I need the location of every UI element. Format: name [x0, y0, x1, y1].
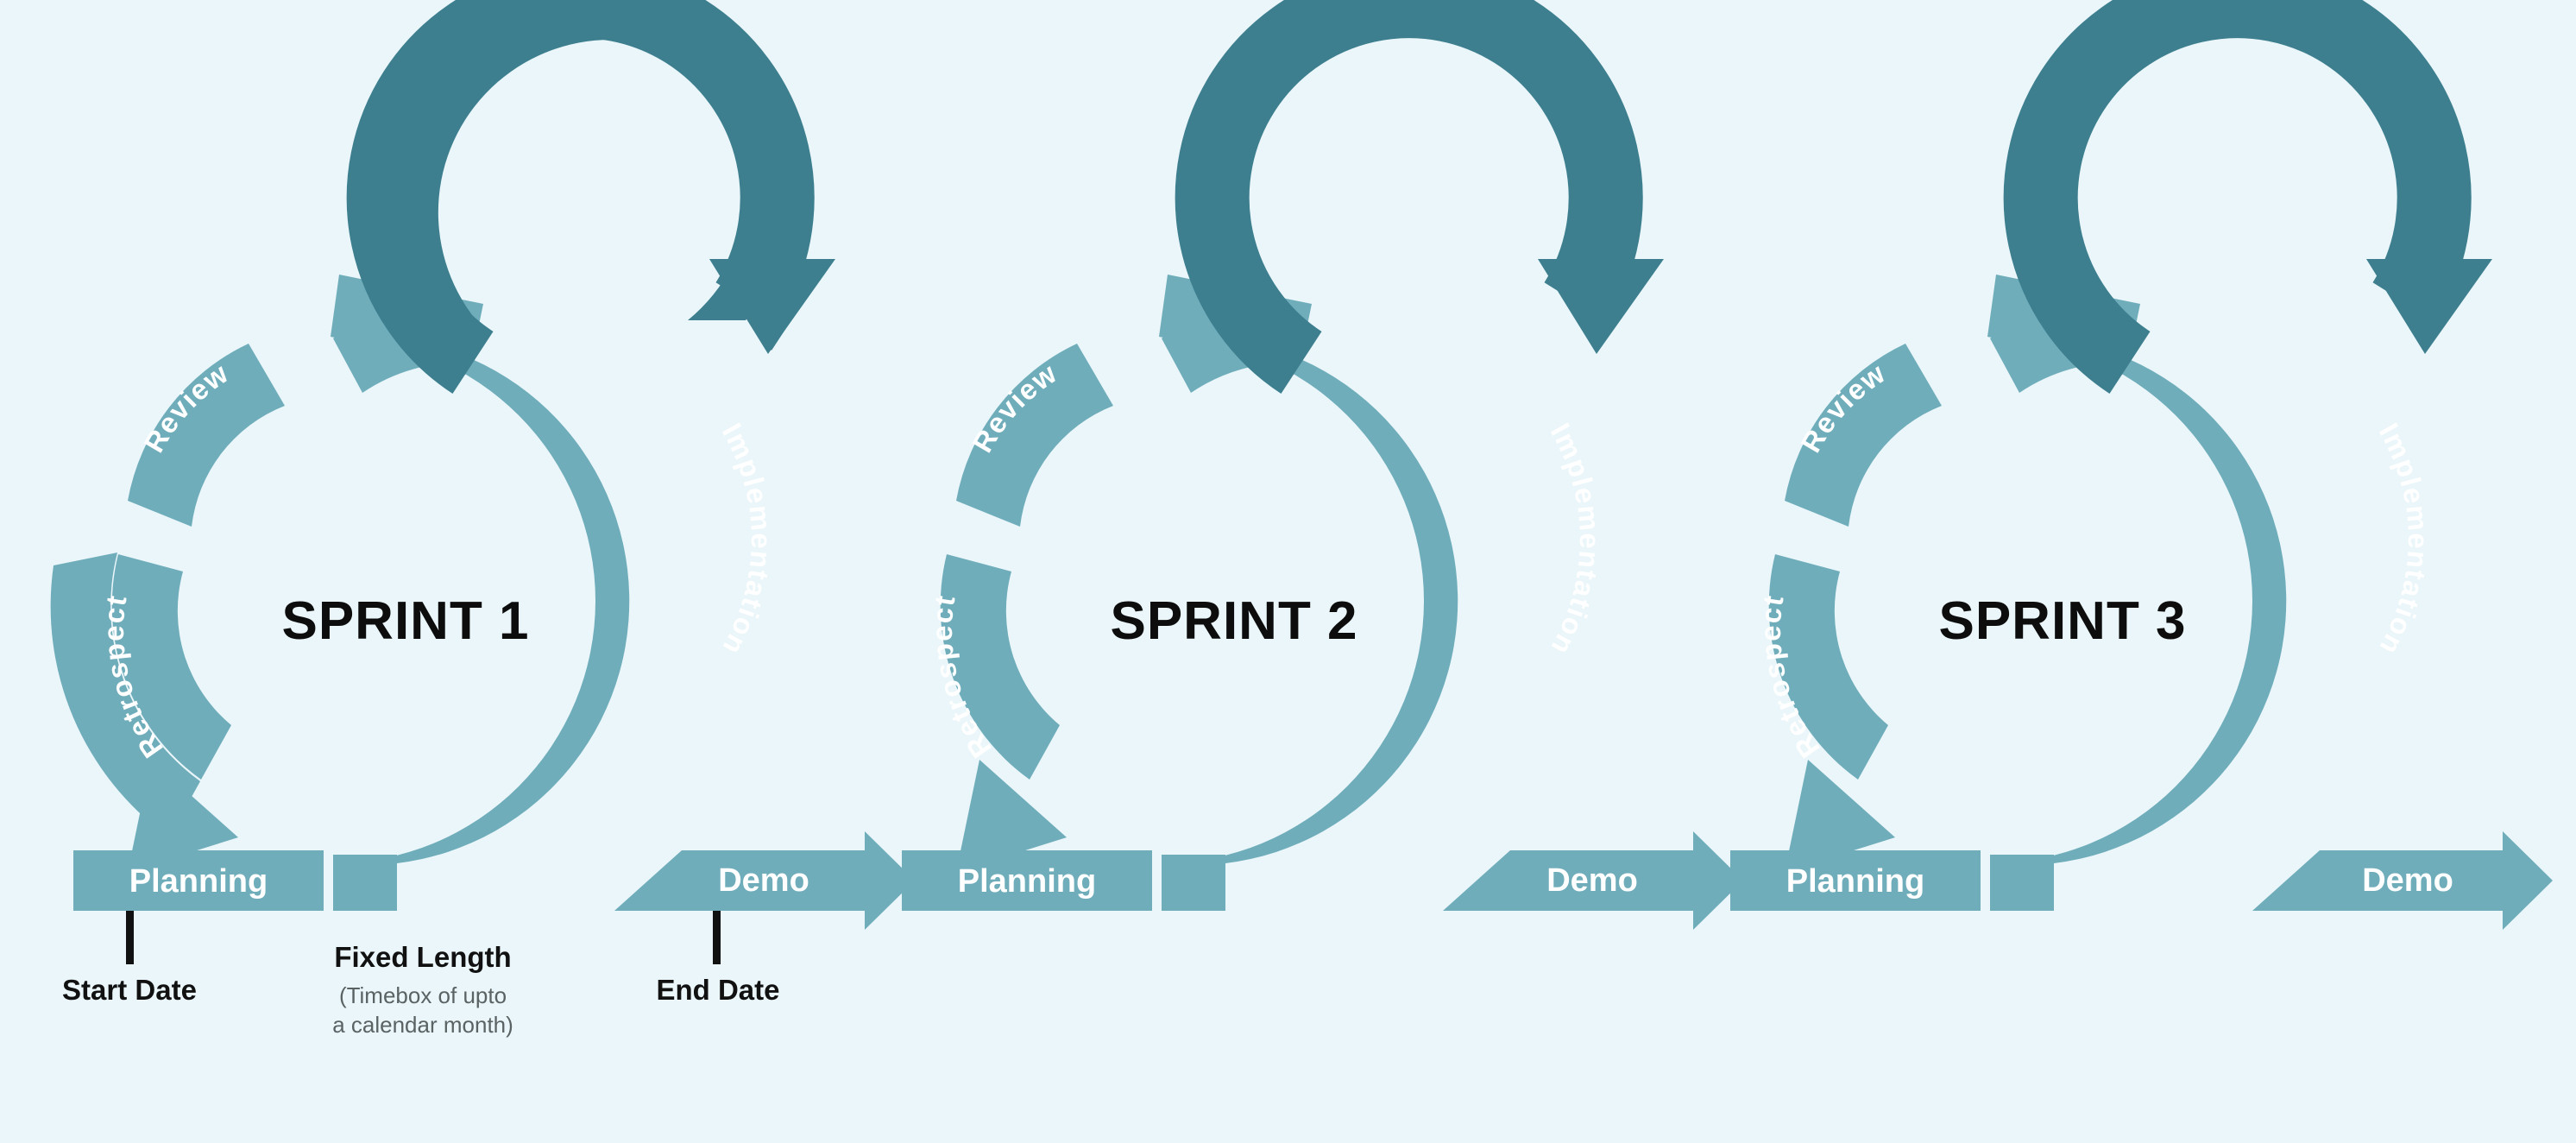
planning-label-1: Planning — [129, 863, 268, 900]
demo-label-1: Demo — [718, 862, 809, 899]
fixed-length-sub-line1: (Timebox of upto — [339, 982, 507, 1008]
planning-label-3: Planning — [1786, 863, 1924, 900]
demo-label-3: Demo — [2362, 862, 2453, 899]
sprint-cycle-diagram: Implementation Review Retrospect SPRINT … — [0, 0, 2576, 1143]
start-date-tick — [126, 911, 134, 964]
fixed-length-sub-line2: a calendar month) — [332, 1012, 513, 1038]
planning-chip-3[interactable]: Planning — [1730, 850, 1981, 911]
sprint-title-3: SPRINT 3 — [1938, 591, 2186, 651]
planning-chip-1[interactable]: Planning — [73, 850, 324, 911]
diagram-canvas: Implementation Review Retrospect SPRINT … — [0, 0, 2576, 1143]
start-date-label: Start Date — [62, 974, 197, 1006]
sprint-title-2: SPRINT 2 — [1110, 591, 1357, 651]
fixed-length-annotation: Fixed Length (Timebox of upto a calendar… — [332, 941, 513, 1038]
demo-label-2: Demo — [1546, 862, 1638, 899]
planning-chip-2[interactable]: Planning — [902, 850, 1152, 911]
fixed-length-label: Fixed Length — [334, 941, 511, 973]
end-date-label: End Date — [656, 974, 779, 1006]
end-date-tick — [713, 911, 721, 964]
planning-label-2: Planning — [958, 863, 1096, 900]
sprint-title-1: SPRINT 1 — [281, 591, 529, 651]
